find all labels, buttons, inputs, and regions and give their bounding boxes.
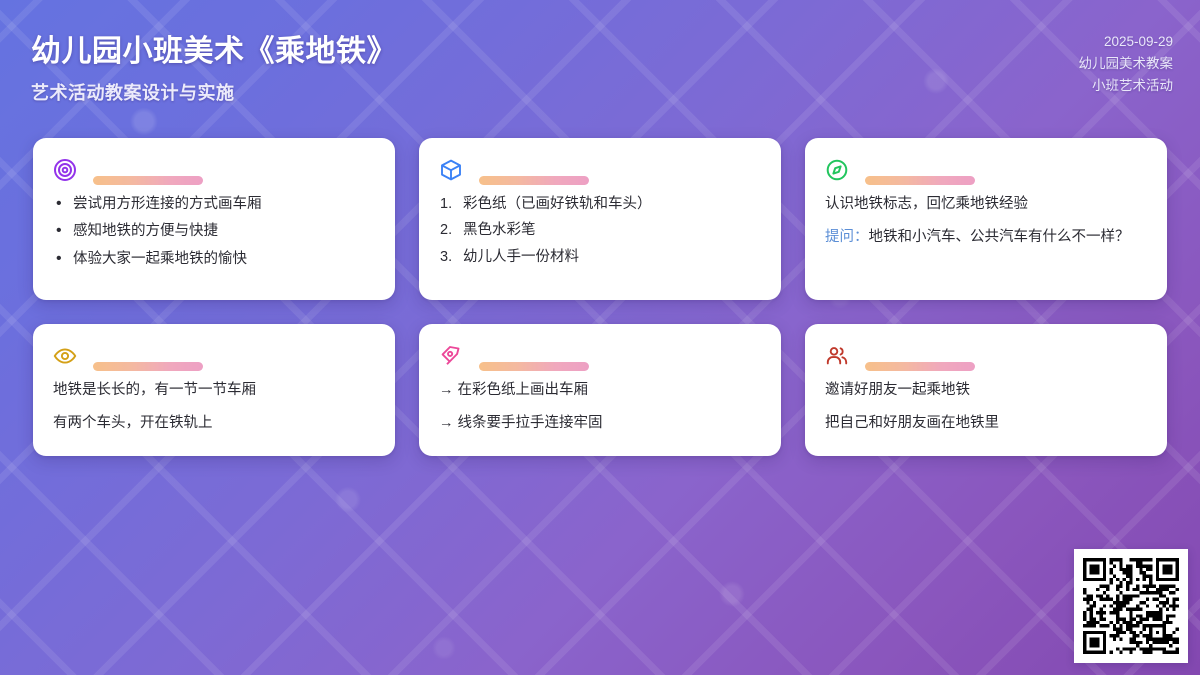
accent-bar	[479, 362, 589, 371]
box-icon	[439, 158, 463, 182]
card-sharing[interactable]: 邀请好朋友一起乘地铁 把自己和好朋友画在地铁里	[805, 324, 1167, 456]
objectives-list: 尝试用方形连接的方式画车厢 感知地铁的方便与快捷 体验大家一起乘地铁的愉快	[53, 193, 375, 270]
observation-content: 地铁是长长的，有一节一节车厢 有两个车头，开在铁轨上	[53, 379, 375, 435]
question-text: 地铁和小汽车、公共汽车有什么不一样？	[869, 229, 1130, 245]
qr-code-image	[1083, 558, 1179, 654]
card-header	[439, 155, 761, 185]
list-item: 彩色纸（已画好铁轨和车头）	[439, 193, 761, 215]
compass-icon	[825, 158, 849, 182]
observation-line: 有两个车头，开在铁轨上	[53, 412, 375, 434]
list-item: 体验大家一起乘地铁的愉快	[53, 248, 375, 270]
card-header	[825, 155, 1147, 185]
card-header	[53, 341, 375, 371]
arrow-glyph: →	[439, 415, 454, 431]
pen-icon	[439, 344, 463, 368]
sharing-content: 邀请好朋友一起乘地铁 把自己和好朋友画在地铁里	[825, 379, 1147, 435]
slide-root: 幼儿园小班美术《乘地铁》 艺术活动教案设计与实施 2025-09-29 幼儿园美…	[0, 0, 1200, 675]
intro-text: 认识地铁标志，回忆乘地铁经验	[825, 193, 1147, 215]
accent-bar	[865, 176, 975, 185]
card-header	[439, 341, 761, 371]
list-item: 尝试用方形连接的方式画车厢	[53, 193, 375, 215]
step-text: 线条要手拉手连接牢固	[458, 415, 603, 431]
materials-list: 彩色纸（已画好铁轨和车头） 黑色水彩笔 幼儿人手一份材料	[439, 193, 761, 268]
accent-bar	[865, 362, 975, 371]
intro-question: 提问：地铁和小汽车、公共汽车有什么不一样？	[825, 226, 1147, 248]
step-line: → 线条要手拉手连接牢固	[439, 412, 761, 434]
slide-header: 幼儿园小班美术《乘地铁》 艺术活动教案设计与实施 2025-09-29 幼儿园美…	[0, 0, 1200, 128]
accent-bar	[479, 176, 589, 185]
header-meta: 2025-09-29 幼儿园美术教案 小班艺术活动	[1079, 31, 1174, 97]
card-observation[interactable]: 地铁是长长的，有一节一节车厢 有两个车头，开在铁轨上	[33, 324, 395, 456]
page-subtitle: 艺术活动教案设计与实施	[31, 79, 235, 105]
question-label: 提问：	[825, 229, 869, 245]
card-introduction[interactable]: 认识地铁标志，回忆乘地铁经验 提问：地铁和小汽车、公共汽车有什么不一样？	[805, 138, 1167, 300]
accent-bar	[93, 176, 203, 185]
list-item: 幼儿人手一份材料	[439, 246, 761, 268]
observation-line: 地铁是长长的，有一节一节车厢	[53, 379, 375, 401]
card-materials[interactable]: 彩色纸（已画好铁轨和车头） 黑色水彩笔 幼儿人手一份材料	[419, 138, 781, 300]
target-icon	[53, 158, 77, 182]
card-drawing-steps[interactable]: → 在彩色纸上画出车厢 → 线条要手拉手连接牢固	[419, 324, 781, 456]
drawing-steps-content: → 在彩色纸上画出车厢 → 线条要手拉手连接牢固	[439, 379, 761, 435]
sharing-line: 把自己和好朋友画在地铁里	[825, 412, 1147, 434]
meta-category: 幼儿园美术教案	[1079, 53, 1174, 75]
step-text: 在彩色纸上画出车厢	[458, 382, 589, 398]
accent-bar	[93, 362, 203, 371]
list-item: 感知地铁的方便与快捷	[53, 220, 375, 242]
introduction-content: 认识地铁标志，回忆乘地铁经验 提问：地铁和小汽车、公共汽车有什么不一样？	[825, 193, 1147, 249]
eye-icon	[53, 344, 77, 368]
sharing-line: 邀请好朋友一起乘地铁	[825, 379, 1147, 401]
meta-date: 2025-09-29	[1079, 31, 1174, 53]
list-item: 黑色水彩笔	[439, 219, 761, 241]
page-title: 幼儿园小班美术《乘地铁》	[31, 26, 397, 70]
meta-subcategory: 小班艺术活动	[1079, 75, 1174, 97]
card-header	[53, 155, 375, 185]
step-line: → 在彩色纸上画出车厢	[439, 379, 761, 401]
arrow-glyph: →	[439, 382, 454, 398]
card-header	[825, 341, 1147, 371]
card-objectives[interactable]: 尝试用方形连接的方式画车厢 感知地铁的方便与快捷 体验大家一起乘地铁的愉快	[33, 138, 395, 300]
users-icon	[825, 344, 849, 368]
qr-code[interactable]	[1074, 549, 1188, 663]
card-grid: 尝试用方形连接的方式画车厢 感知地铁的方便与快捷 体验大家一起乘地铁的愉快 彩色…	[33, 138, 1167, 456]
